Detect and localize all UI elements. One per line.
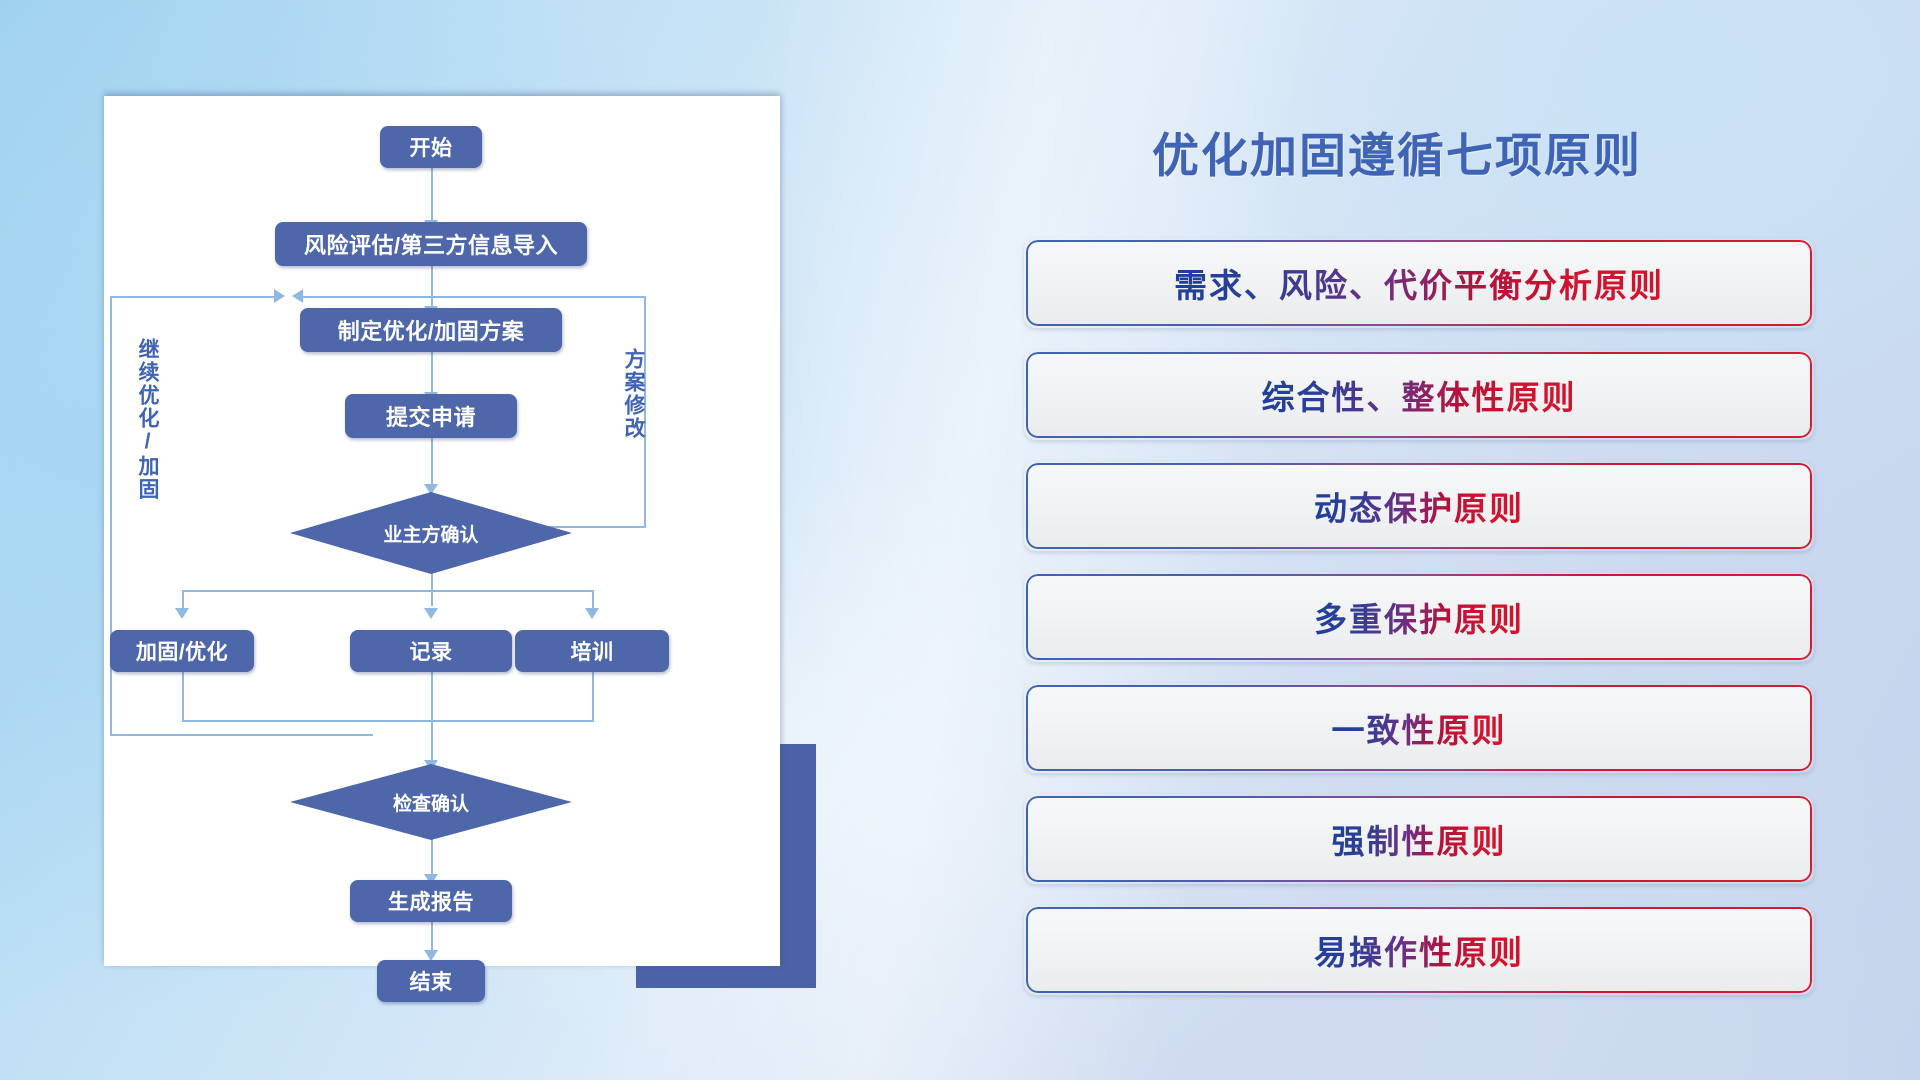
arrowhead-to-training	[585, 608, 599, 619]
principle-bar-3[interactable]: 动态保护原则	[1024, 461, 1814, 551]
connector-start-risk	[431, 168, 433, 226]
arrowhead-to-reinforce	[175, 608, 189, 619]
principle-bar-6[interactable]: 强制性原则	[1024, 794, 1814, 884]
arrowhead-loop-left-to-plan	[274, 289, 285, 303]
flow-node-check-confirm[interactable]: 检查确认	[290, 764, 572, 840]
flow-node-make-plan-label: 制定优化/加固方案	[338, 314, 525, 346]
principle-bar-7-label: 易操作性原则	[1314, 926, 1524, 974]
connector-fanout-horizontal	[182, 590, 594, 592]
flow-node-start[interactable]: 开始	[380, 126, 482, 168]
principle-bar-4[interactable]: 多重保护原则	[1024, 572, 1814, 662]
flow-node-generate-report-label: 生成报告	[388, 886, 474, 916]
flow-node-risk-assessment-label: 风险评估/第三方信息导入	[304, 228, 558, 260]
connector-loop-left-bottom	[110, 734, 373, 736]
edge-label-plan-revision: 方案修改	[618, 348, 648, 440]
principle-bar-4-label: 多重保护原则	[1314, 593, 1524, 641]
connector-loop-left-top	[110, 296, 278, 298]
flow-node-reinforce-optimize-label: 加固/优化	[136, 636, 228, 666]
flow-node-training-label: 培训	[571, 636, 614, 666]
principle-bar-3-label: 动态保护原则	[1314, 482, 1524, 530]
principle-bar-2-label: 综合性、整体性原则	[1262, 371, 1577, 419]
connector-loop-right-top	[298, 296, 646, 298]
principle-bar-6-label: 强制性原则	[1332, 815, 1507, 863]
arrowhead-loop-right-to-plan	[292, 289, 303, 303]
flow-node-generate-report[interactable]: 生成报告	[350, 880, 512, 922]
flow-node-end[interactable]: 结束	[377, 960, 485, 1002]
flow-node-risk-assessment[interactable]: 风险评估/第三方信息导入	[275, 222, 587, 266]
page-title: 优化加固遵循七项原则	[1152, 117, 1642, 186]
principle-bar-1[interactable]: 需求、风险、代价平衡分析原则	[1024, 238, 1814, 328]
connector-merge-horizontal	[182, 720, 594, 722]
arrowhead-to-record	[424, 608, 438, 619]
flow-node-check-confirm-label: 检查确认	[393, 789, 469, 816]
principle-bar-7[interactable]: 易操作性原则	[1024, 905, 1814, 995]
connector-reinforce-down	[182, 672, 184, 722]
principle-bar-1-label: 需求、风险、代价平衡分析原则	[1174, 259, 1664, 307]
flowchart-card: 开始 风险评估/第三方信息导入 制定优化/加固方案 提交申请 业主方确认 加固/…	[104, 96, 780, 966]
flow-node-submit-application[interactable]: 提交申请	[345, 394, 517, 438]
connector-record-down	[431, 672, 433, 768]
flow-node-owner-confirm[interactable]: 业主方确认	[290, 492, 572, 574]
flow-node-record[interactable]: 记录	[350, 630, 512, 672]
flow-node-record-label: 记录	[410, 636, 453, 666]
slide-background: 开始 风险评估/第三方信息导入 制定优化/加固方案 提交申请 业主方确认 加固/…	[0, 0, 1920, 1080]
flow-node-start-label: 开始	[410, 132, 453, 162]
connector-training-down	[592, 672, 594, 722]
flow-node-owner-confirm-label: 业主方确认	[383, 520, 478, 547]
flow-node-submit-application-label: 提交申请	[386, 400, 476, 432]
flow-node-training[interactable]: 培训	[515, 630, 669, 672]
edge-label-continue-optimize: 继续优化/加固	[132, 338, 162, 501]
connector-submit-owner	[431, 438, 433, 490]
principle-bar-5-label: 一致性原则	[1332, 704, 1507, 752]
flow-node-end-label: 结束	[410, 966, 453, 996]
flow-node-reinforce-optimize[interactable]: 加固/优化	[110, 630, 254, 672]
principle-bar-2[interactable]: 综合性、整体性原则	[1024, 350, 1814, 440]
flow-node-make-plan[interactable]: 制定优化/加固方案	[300, 308, 562, 352]
connector-loop-left-vertical	[110, 296, 112, 736]
principle-bar-5[interactable]: 一致性原则	[1024, 683, 1814, 773]
